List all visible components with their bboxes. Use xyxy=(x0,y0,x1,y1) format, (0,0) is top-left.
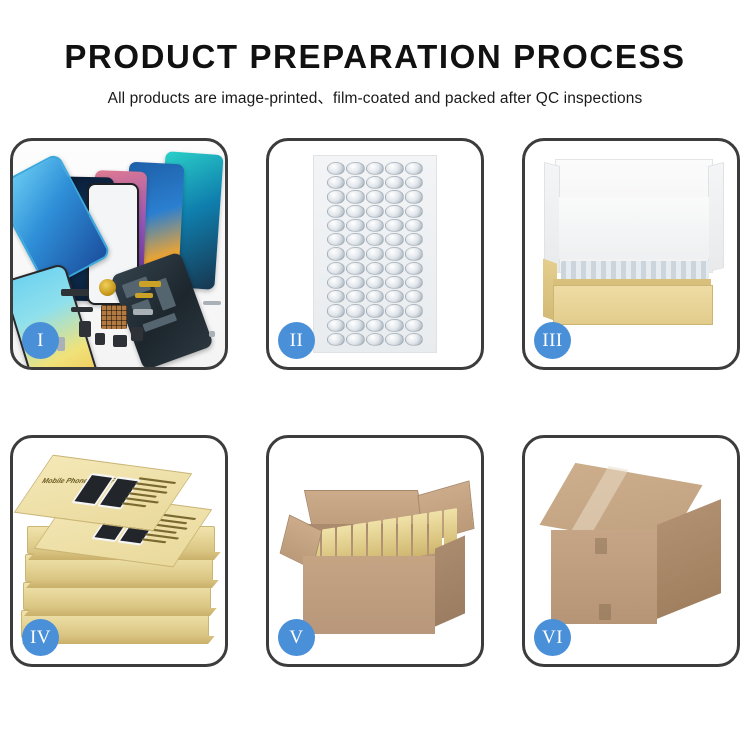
part-screwdriver xyxy=(203,301,221,305)
process-steps-grid: I II III xyxy=(10,138,740,698)
bubble xyxy=(346,219,364,232)
step-panel-6: VI xyxy=(522,435,740,667)
bubble xyxy=(346,205,364,218)
bubble xyxy=(366,304,384,317)
bubble xyxy=(366,247,384,260)
bubble xyxy=(327,276,345,289)
bubble xyxy=(405,162,423,175)
part-flex-cable-1 xyxy=(139,281,161,287)
bubble xyxy=(405,290,423,303)
part-camera-module xyxy=(131,327,143,341)
part-earpiece xyxy=(61,289,89,296)
bubble xyxy=(385,233,403,246)
header: PRODUCT PREPARATION PROCESS All products… xyxy=(0,0,750,108)
bubble xyxy=(366,219,384,232)
bubble xyxy=(405,247,423,260)
step-badge-6: VI xyxy=(534,619,571,656)
bubble xyxy=(385,290,403,303)
bubble xyxy=(405,304,423,317)
bubble xyxy=(385,162,403,175)
carton-side-panel xyxy=(435,535,465,626)
bubble xyxy=(366,276,384,289)
page-subtitle: All products are image-printed、film-coat… xyxy=(0,76,750,108)
step-panel-1: I xyxy=(10,138,228,370)
carton-front-panel xyxy=(551,530,657,624)
part-taptic-engine xyxy=(113,335,127,347)
bubble xyxy=(327,290,345,303)
bubble xyxy=(327,233,345,246)
bubble-wrap xyxy=(327,162,423,346)
bubble xyxy=(385,333,403,346)
step-panel-3: III xyxy=(522,138,740,370)
step-badge-3: III xyxy=(534,322,571,359)
bubble xyxy=(385,276,403,289)
bubble xyxy=(346,190,364,203)
part-connector-2 xyxy=(95,333,105,345)
bubble xyxy=(327,247,345,260)
bubble xyxy=(327,219,345,232)
bubble xyxy=(405,219,423,232)
bubble xyxy=(385,176,403,189)
step-panel-5: V xyxy=(266,435,484,667)
part-connector-1 xyxy=(79,321,91,337)
chip-array xyxy=(101,305,127,329)
bubble xyxy=(405,262,423,275)
bubble xyxy=(366,233,384,246)
foam-insert xyxy=(559,197,709,259)
bubble xyxy=(366,262,384,275)
bubble xyxy=(385,304,403,317)
bubble xyxy=(346,176,364,189)
part-antenna-flex xyxy=(71,307,93,312)
bubble xyxy=(405,333,423,346)
bubble xyxy=(405,190,423,203)
bubble xyxy=(346,319,364,332)
bubble xyxy=(385,219,403,232)
bubble xyxy=(346,304,364,317)
bubble xyxy=(385,205,403,218)
bubble xyxy=(327,205,345,218)
bubble xyxy=(346,333,364,346)
bubble xyxy=(385,190,403,203)
step-badge-1: I xyxy=(22,322,59,359)
step-panel-4: Mobile Phone Spare Parts Mobile Phone Sp… xyxy=(10,435,228,667)
bubble xyxy=(405,319,423,332)
step-badge-5: V xyxy=(278,619,315,656)
bubble xyxy=(327,333,345,346)
bubble xyxy=(346,290,364,303)
bubble xyxy=(385,319,403,332)
bubble xyxy=(405,176,423,189)
bubble xyxy=(327,162,345,175)
bubble xyxy=(366,190,384,203)
bubble xyxy=(327,304,345,317)
part-screw xyxy=(209,331,215,337)
product-preparation-infographic: PRODUCT PREPARATION PROCESS All products… xyxy=(0,0,750,750)
bubble xyxy=(366,333,384,346)
bubble xyxy=(346,276,364,289)
speaker-coil xyxy=(99,279,116,296)
bubble xyxy=(385,262,403,275)
bubble xyxy=(327,262,345,275)
box-front-panel xyxy=(553,285,713,325)
carton-front-panel xyxy=(303,556,435,634)
page-title: PRODUCT PREPARATION PROCESS xyxy=(0,0,750,76)
bubble xyxy=(405,205,423,218)
bubble xyxy=(346,262,364,275)
step-badge-4: IV xyxy=(22,619,59,656)
bubble xyxy=(366,162,384,175)
bubble xyxy=(366,205,384,218)
bubble xyxy=(405,233,423,246)
bubble xyxy=(327,176,345,189)
bubble xyxy=(346,162,364,175)
part-bracket xyxy=(133,309,153,315)
step-panel-2: II xyxy=(266,138,484,370)
part-flex-cable-2 xyxy=(135,293,153,298)
bubble xyxy=(366,176,384,189)
bubble xyxy=(346,233,364,246)
bubble xyxy=(366,319,384,332)
step-badge-2: II xyxy=(278,322,315,359)
bubble xyxy=(327,190,345,203)
bubble xyxy=(405,276,423,289)
bubble xyxy=(366,290,384,303)
bubble xyxy=(327,319,345,332)
bubble xyxy=(346,247,364,260)
bubble xyxy=(385,247,403,260)
